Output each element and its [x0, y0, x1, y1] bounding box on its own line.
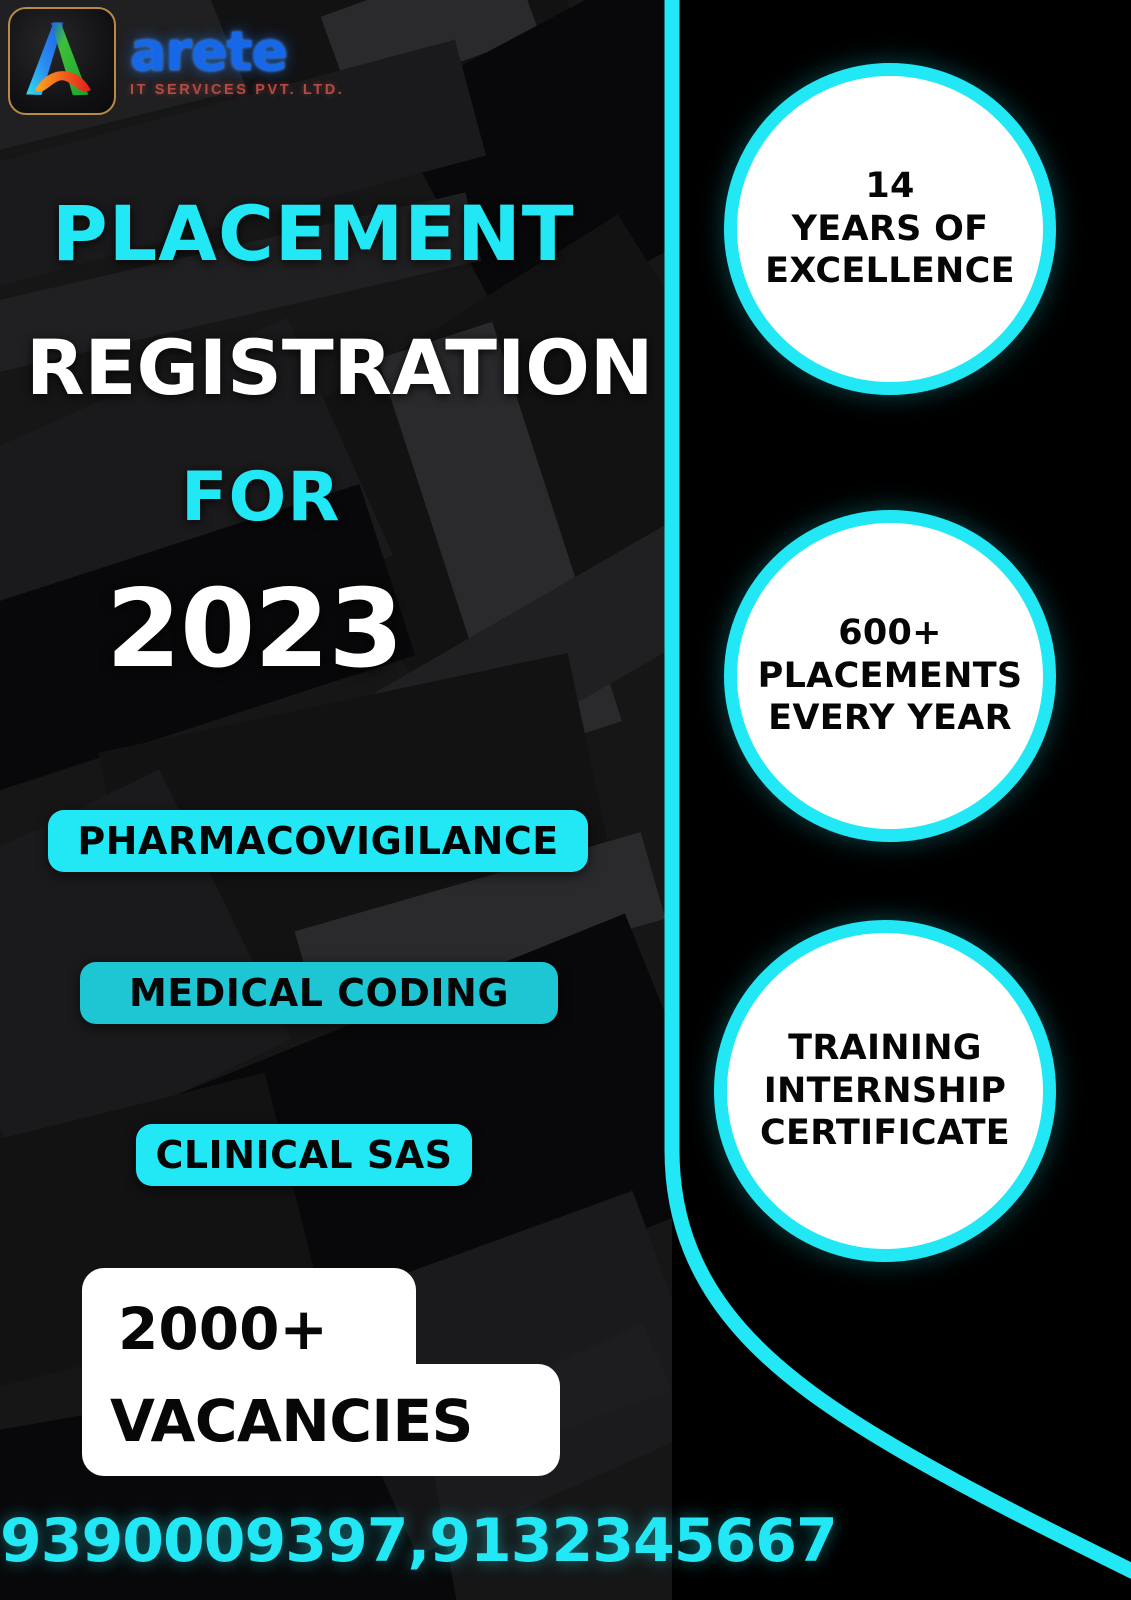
- course-badge-pharmacovigilance[interactable]: PHARMACOVIGILANCE: [48, 810, 588, 872]
- stat-line: 14: [865, 165, 914, 208]
- headline-year: 2023: [106, 576, 403, 684]
- brand-tagline: IT SERVICES PVT. LTD.: [130, 83, 344, 98]
- vacancies-callout: 2000+ VACANCIES: [82, 1268, 560, 1476]
- arete-a-logo-icon: [8, 7, 116, 115]
- vacancies-count: 2000+: [118, 1300, 328, 1358]
- stat-circle-placements-every-year: 600+ PLACEMENTS EVERY YEAR: [724, 510, 1056, 842]
- placement-registration-poster: arete IT SERVICES PVT. LTD. PLACEMENT RE…: [0, 0, 1131, 1600]
- headline-registration: REGISTRATION: [26, 330, 653, 406]
- course-badge-label: CLINICAL SAS: [155, 1133, 452, 1177]
- stat-line: CERTIFICATE: [760, 1112, 1010, 1155]
- stat-line: TRAINING: [788, 1027, 982, 1070]
- course-badge-label: PHARMACOVIGILANCE: [77, 819, 558, 863]
- stat-line: EVERY YEAR: [768, 697, 1012, 740]
- course-badge-label: MEDICAL CODING: [129, 971, 509, 1015]
- course-badge-clinical-sas[interactable]: CLINICAL SAS: [136, 1124, 472, 1186]
- stat-line: PLACEMENTS: [758, 655, 1023, 698]
- brand-name: arete: [130, 25, 344, 79]
- contact-phone-numbers[interactable]: 9390009397,9132345667: [0, 1506, 835, 1576]
- headline-for: FOR: [181, 464, 341, 532]
- stat-circle-years-of-excellence: 14 YEARS OF EXCELLENCE: [724, 63, 1056, 395]
- stat-line: INTERNSHIP: [764, 1070, 1007, 1113]
- stat-circle-training-internship-certificate: TRAINING INTERNSHIP CERTIFICATE: [714, 920, 1056, 1262]
- course-badge-medical-coding[interactable]: MEDICAL CODING: [80, 962, 558, 1024]
- brand-wordmark: arete IT SERVICES PVT. LTD.: [130, 25, 344, 98]
- stat-line: YEARS OF: [792, 208, 989, 251]
- headline-placement: PLACEMENT: [52, 196, 575, 272]
- stat-line: EXCELLENCE: [765, 250, 1015, 293]
- vacancies-label: VACANCIES: [110, 1392, 473, 1450]
- brand-logo: arete IT SERVICES PVT. LTD.: [8, 7, 344, 115]
- stat-line: 600+: [838, 612, 942, 655]
